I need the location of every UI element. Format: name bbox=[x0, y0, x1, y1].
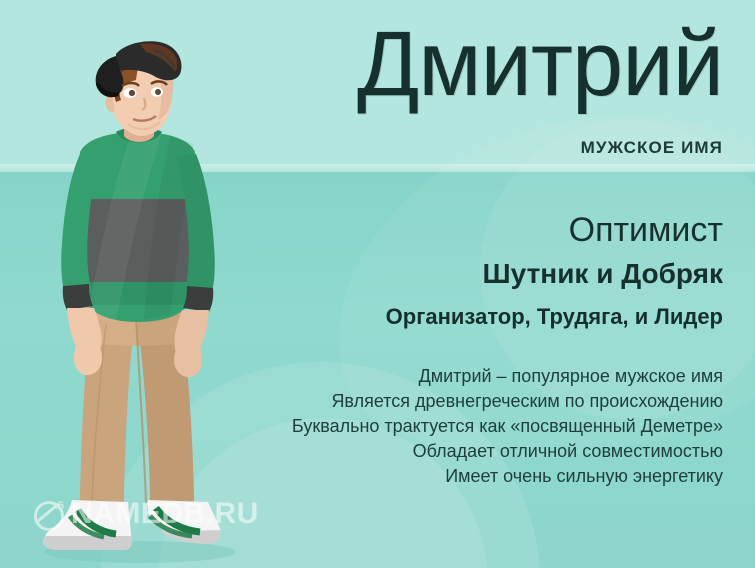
description-line: Обладает отличной совместимостью bbox=[292, 439, 723, 464]
description-line: Дмитрий – популярное мужское имя bbox=[292, 364, 723, 389]
shoe-right bbox=[148, 500, 221, 544]
name-description: Дмитрий – популярное мужское имя Являетс… bbox=[292, 364, 723, 489]
trait-secondary: Шутник и Добряк bbox=[483, 258, 723, 290]
trait-primary: Оптимист bbox=[569, 211, 723, 250]
name-gender-subtitle: МУЖСКОЕ ИМЯ bbox=[581, 138, 723, 158]
description-line: Является древнегреческим по происхождени… bbox=[292, 389, 723, 414]
shoe-left bbox=[43, 500, 133, 550]
trait-tertiary: Организатор, Трудяга, и Лидер bbox=[386, 304, 723, 330]
description-line: Буквально трактуется как «посвященный Де… bbox=[292, 414, 723, 439]
young-man-character-illustration bbox=[20, 24, 260, 568]
page-title: Дмитрий bbox=[357, 18, 723, 110]
description-line: Имеет очень сильную энергетику bbox=[292, 464, 723, 489]
name-info-card: Дмитрий МУЖСКОЕ ИМЯ Оптимист Шутник и До… bbox=[0, 0, 755, 568]
